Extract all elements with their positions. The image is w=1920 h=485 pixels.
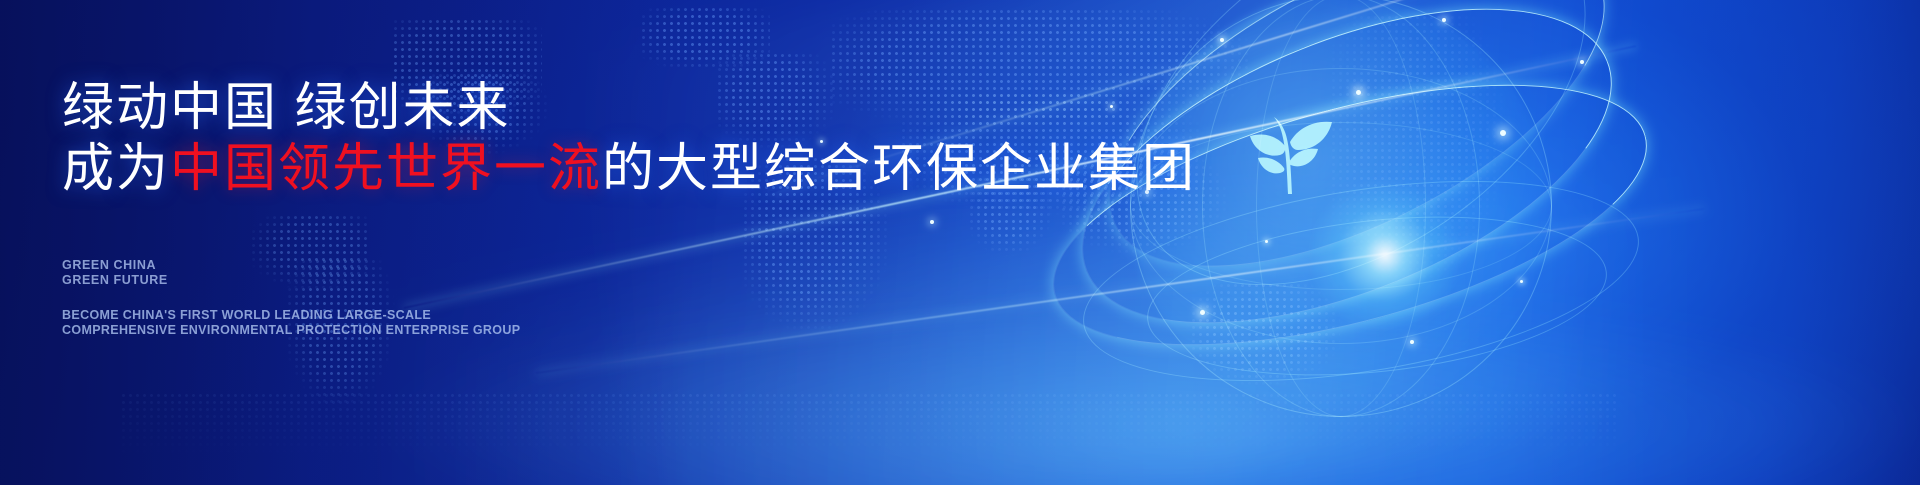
sprout-leaf-icon — [1228, 90, 1348, 210]
particle — [1220, 38, 1224, 42]
globe-center-burst — [1305, 175, 1465, 335]
particle — [1500, 130, 1506, 136]
headline-line-2-highlight: 中国领先世界一流 — [170, 140, 602, 198]
globe-meridian — [1202, 0, 1480, 417]
dotted-world-map — [0, 0, 1920, 485]
particle — [1356, 90, 1361, 95]
particle — [1580, 60, 1584, 64]
description-block: BECOME CHINA'S FIRST WORLD LEADING LARGE… — [62, 308, 520, 338]
left-vignette — [0, 0, 1920, 485]
headline-block: 绿动中国 绿创未来 成为中国领先世界一流的大型综合环保企业集团 — [62, 78, 1196, 200]
tagline-block: GREEN CHINA GREEN FUTURE — [62, 258, 168, 288]
particle — [930, 220, 934, 224]
globe-meridian — [1130, 0, 1552, 417]
particle — [1265, 240, 1268, 243]
particle — [1200, 310, 1205, 315]
particle — [1410, 340, 1414, 344]
promo-banner: 绿动中国 绿创未来 成为中国领先世界一流的大型综合环保企业集团 GREEN CH… — [0, 0, 1920, 485]
particle — [1520, 280, 1523, 283]
tagline-line-2: GREEN FUTURE — [62, 273, 168, 288]
globe-core-glow — [1130, 0, 1550, 415]
headline-line-2: 成为中国领先世界一流的大型综合环保企业集团 — [62, 138, 1196, 200]
globe-orbit-ring-faint — [1139, 196, 1614, 395]
headline-line-2-suffix: 的大型综合环保企业集团 — [602, 140, 1196, 198]
tagline-line-1: GREEN CHINA — [62, 258, 168, 273]
light-sweep-upper — [588, 0, 1920, 485]
globe-meridian — [1256, 0, 1426, 417]
wireframe-globe — [1050, 0, 1670, 485]
light-streak — [536, 208, 1705, 374]
description-line-2: COMPREHENSIVE ENVIRONMENTAL PROTECTION E… — [62, 323, 520, 338]
headline-line-2-prefix: 成为 — [62, 140, 170, 198]
headline-line-1: 绿动中国 绿创未来 — [62, 78, 1196, 138]
description-line-1: BECOME CHINA'S FIRST WORLD LEADING LARGE… — [62, 308, 520, 323]
particle — [1442, 18, 1446, 22]
